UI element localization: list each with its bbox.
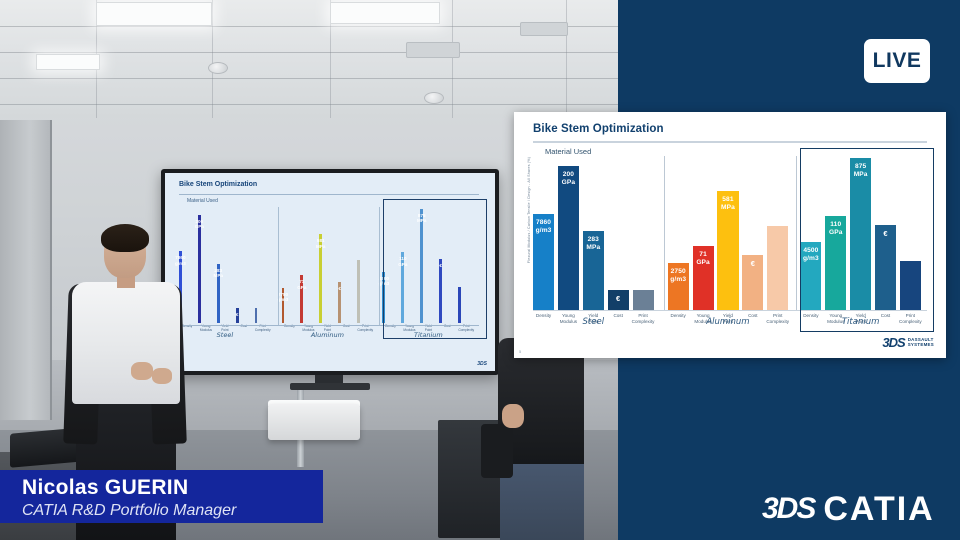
tv-chart-group-aluminum: 2750g/m3Density71GPaYoungModulus581MPaYi… (282, 209, 374, 323)
dassault-line2: SYSTEMES (908, 343, 934, 348)
chart-bar-value: € (883, 230, 887, 238)
chart-bar: 200GPa (558, 166, 579, 310)
tv-slide-title: Bike Stem Optimization (179, 181, 257, 188)
chart-bar: 581MPa (717, 191, 738, 310)
slide-title-rule (533, 141, 927, 143)
tv-chart-bar: € (338, 282, 341, 323)
chart-bar-value: 2750g/m3 (670, 268, 686, 284)
dassault-wordmark: DASSAULT SYSTEMES (908, 338, 934, 347)
tv-chart-bar: 71GPa (300, 275, 303, 323)
chart-group-separator (664, 156, 665, 310)
chart-baseline (533, 310, 927, 311)
tv-chart-group-steel: 7860g/m3Density200GPaYoungModulus283MPaY… (179, 209, 271, 323)
presenter-hand-right (152, 368, 172, 384)
3ds-logo-mark: 3DS (762, 492, 814, 526)
speaker-role: CATIA R&D Portfolio Manager (22, 500, 323, 521)
chart-bar: € (608, 290, 629, 310)
chart-bar-wrapper: 283MPaYieldPoint (583, 158, 604, 310)
chart-bar-wrapper: 7860g/m3Density (533, 158, 554, 310)
tv-chart-bar-value: 71GPa (297, 279, 306, 290)
ceiling-vent (520, 22, 568, 36)
tv-dassault-logo: 3DS (477, 361, 487, 367)
tv-slide: Bike Stem Optimization Material Used 786… (165, 173, 495, 371)
chart-group-steel: 7860g/m3Density200GPaYoungModulus283MPaY… (533, 158, 654, 310)
tv-chart-bar-wrapper: €Cost (236, 209, 252, 323)
presenter-shirt (72, 282, 180, 404)
live-badge: LIVE (864, 39, 930, 83)
presenter-hair (101, 224, 149, 252)
tv-chart-bar-value: 283MPa (214, 268, 223, 279)
tv-chart-bar-value: 7860g/m3 (175, 255, 186, 266)
ceiling-light (36, 54, 100, 70)
chart-bar: 875MPa (850, 158, 871, 310)
chart-bar-wrapper: €Cost (608, 158, 629, 310)
chart-bar (767, 226, 788, 310)
chart-bar-value: € (751, 260, 755, 268)
slide-subtitle: Material Used (545, 147, 591, 156)
chart-bar-wrapper: 4500g/m3Density (800, 158, 821, 310)
chart-bar: 110GPa (825, 216, 846, 310)
tv-chart-highlight-box (383, 199, 487, 339)
tv-chart-group-separator (379, 207, 380, 325)
chart-bar-wrapper: €Cost (742, 158, 763, 310)
chart-bar: 283MPa (583, 231, 604, 310)
ceiling-speaker (208, 62, 228, 74)
tv-chart-bar-wrapper: PrintComplexity (357, 209, 373, 323)
tv-chart-bar-wrapper: PrintComplexity (255, 209, 271, 323)
tv-chart-bar-wrapper: €Cost (338, 209, 354, 323)
video-stage: Bike Stem Optimization Material Used 786… (0, 0, 960, 540)
catia-logo: 3DS CATIA (762, 487, 948, 531)
chart-bar-wrapper: 2750g/m3Density (668, 158, 689, 310)
chart-bar-wrapper: €Cost (875, 158, 896, 310)
ceiling-light (96, 2, 212, 26)
chart-y-axis-label: Flexural Modulus / Carbon Tensile / Desi… (527, 151, 531, 269)
chart-bar-value: 71GPa (696, 251, 710, 267)
tv-chart-group-label: Titanium (382, 331, 474, 339)
equipment-cart (268, 404, 360, 440)
ceiling (0, 0, 640, 118)
chart-bar: € (742, 255, 763, 310)
chart-group-label: Aluminum (668, 317, 789, 327)
tv-chart-bar-wrapper: 283MPaYieldPoint (217, 209, 233, 323)
dassault-systemes-logo: 3DS DASSAULT SYSTEMES (882, 335, 934, 350)
chart-bar-wrapper: 581MPaYieldPoint (717, 158, 738, 310)
chart-bar: 2750g/m3 (668, 263, 689, 310)
ceiling-speaker (424, 92, 444, 104)
chart-bar-value: 110GPa (829, 221, 843, 237)
presenter-hand-left (131, 362, 153, 380)
tv-chart-bar-wrapper: 2750g/m3Density (282, 209, 298, 323)
tv-chart-bar-value: € (338, 286, 341, 291)
chart-group-label: Titanium (800, 317, 921, 327)
chart-group-aluminum: 2750g/m3Density71GPaYoungModulus581MPaYi… (668, 158, 789, 310)
chart-group-titanium: 4500g/m3Density110GPaYoungModulus875MPaY… (800, 158, 921, 310)
tv-chart-bar: 581MPa (319, 234, 322, 323)
chart-bar: € (875, 225, 896, 310)
speaker-name: Nicolas GUERIN (22, 475, 323, 500)
lower-third-banner: Nicolas GUERIN CATIA R&D Portfolio Manag… (0, 470, 323, 523)
tv-slide-rule (179, 194, 479, 195)
chart-bar-wrapper: 110GPaYoungModulus (825, 158, 846, 310)
chart-group-separator (796, 156, 797, 310)
tv-chart-bar: € (236, 308, 239, 323)
slide-overlay: Bike Stem Optimization Material Used Fle… (514, 112, 946, 358)
chart-bar-wrapper: 71GPaYoungModulus (693, 158, 714, 310)
chart-bar-value: 200GPa (562, 171, 576, 187)
door-frame (0, 120, 52, 420)
tv-chart-bar-wrapper: 200GPaYoungModulus (198, 209, 214, 323)
tv-chart-group-separator (278, 207, 279, 325)
tv-chart-bar-value: 200GPa (195, 219, 204, 230)
catia-wordmark: CATIA (823, 490, 934, 529)
chart-bar-wrapper: 200GPaYoungModulus (558, 158, 579, 310)
chart-plot-area: 7860g/m3Density200GPaYoungModulus283MPaY… (533, 158, 935, 310)
3ds-logo-mark: 3DS (882, 335, 904, 350)
chart-bar-value: 283MPa (586, 236, 600, 252)
slide-page-number: 5 (519, 349, 521, 354)
chart-bar: 4500g/m3 (800, 242, 821, 310)
attendee-bag (481, 424, 513, 478)
chart-bar-wrapper: PrintComplexity (900, 158, 921, 310)
tv-chart-bar (357, 260, 360, 323)
tv-chart-bar: 283MPa (217, 264, 220, 323)
chart-bar-value: 581MPa (721, 196, 735, 212)
chart-bar-value: 875MPa (854, 163, 868, 179)
tv-chart-group-label: Steel (179, 331, 271, 339)
tv-chart-bar: 200GPa (198, 215, 201, 323)
tv-chart-group-label: Aluminum (282, 331, 374, 339)
chart-bar-value: € (616, 295, 620, 303)
chart-bar (900, 261, 921, 310)
chart-bar: 71GPa (693, 246, 714, 310)
chart-bar-wrapper: PrintComplexity (633, 158, 654, 310)
slide-title: Bike Stem Optimization (533, 123, 664, 135)
chart-bar-value: 7860g/m3 (536, 219, 552, 235)
presentation-tv: Bike Stem Optimization Material Used 786… (161, 169, 499, 375)
tv-mount-base (290, 383, 370, 390)
tv-chart-bar (255, 308, 258, 323)
ceiling-vent (406, 42, 460, 58)
chart-bar-wrapper: 875MPaYieldPoint (850, 158, 871, 310)
tv-screen: Bike Stem Optimization Material Used 786… (165, 173, 495, 371)
chart-bar-value: 4500g/m3 (803, 247, 819, 263)
ceiling-light (330, 2, 440, 24)
tv-slide-subtitle: Material Used (187, 198, 218, 204)
tv-chart-bar-value: 581MPa (316, 238, 325, 249)
chart-bar (633, 290, 654, 310)
tv-chart-bar-value: € (236, 312, 239, 317)
chart-bar: 7860g/m3 (533, 214, 554, 310)
tv-chart-bar: 2750g/m3 (282, 288, 285, 323)
chart-group-label: Steel (533, 317, 654, 327)
attendee-hand (502, 404, 524, 428)
chart-bar-wrapper: PrintComplexity (767, 158, 788, 310)
tv-chart-bar-wrapper: 581MPaYieldPoint (319, 209, 335, 323)
tv-chart-bar-wrapper: 71GPaYoungModulus (300, 209, 316, 323)
